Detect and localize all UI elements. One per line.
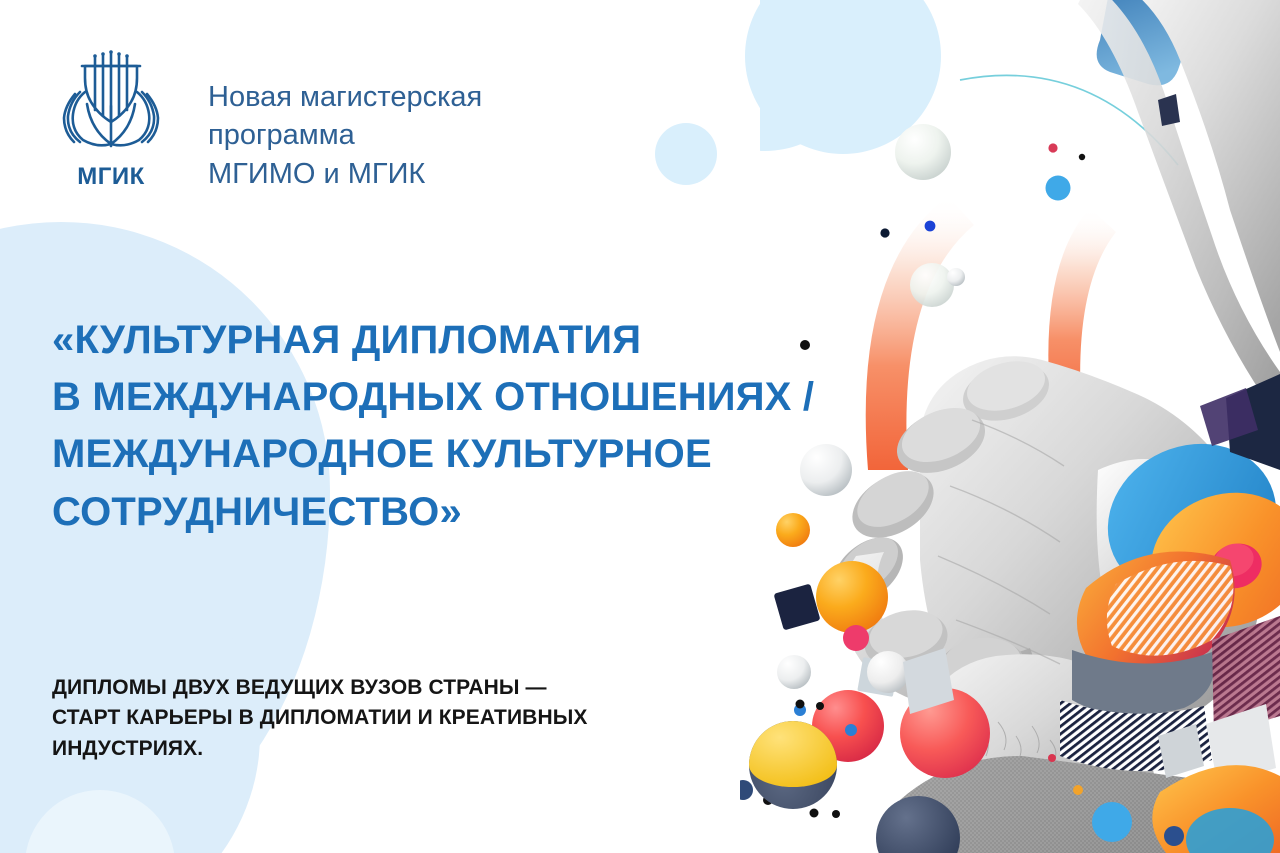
white-sphere-tiny <box>947 268 965 286</box>
mgik-lyre-book-emblem <box>61 48 161 156</box>
mgik-wordmark: МГИК <box>77 163 145 191</box>
grey-cube <box>857 657 898 697</box>
black-dot <box>880 228 889 237</box>
navy-shard <box>1226 374 1280 470</box>
blue-dot <box>925 221 936 232</box>
blue-gradient-rounded-shape <box>1097 0 1205 85</box>
tagline-line-2: СТАРТ КАРЬЕРЫ В ДИПЛОМАТИИ И КРЕАТИВНЫХ <box>52 703 587 733</box>
mgik-logo: МГИК <box>52 48 170 191</box>
white-sphere-top <box>867 651 909 693</box>
striped-fan-shape <box>1072 552 1235 716</box>
sky-blue-dot <box>1046 176 1071 201</box>
amber-sphere-large <box>816 561 888 633</box>
header-line-1: Новая магистерская <box>208 78 482 116</box>
colourful-shape-cluster <box>1048 374 1280 853</box>
blue-disc <box>1083 417 1280 622</box>
red-dot <box>1048 143 1057 152</box>
cyan-thin-arc <box>960 75 1178 165</box>
coral-sphere-big <box>900 688 990 778</box>
tagline: ДИПЛОМЫ ДВУХ ВЕДУЩИХ ВУЗОВ СТРАНЫ — СТАР… <box>52 673 587 764</box>
grey-panel-2 <box>903 648 954 714</box>
title-line-4: СОТРУДНИЧЕСТВО» <box>52 484 814 541</box>
pink-sphere-small <box>843 625 869 651</box>
coral-sphere <box>812 690 884 762</box>
header: МГИК Новая магистерская программа МГИМО … <box>52 48 482 193</box>
white-sphere-2 <box>777 655 811 689</box>
pearl-sphere-2 <box>910 263 954 307</box>
suit-sleeve <box>900 756 1280 853</box>
grey-panel <box>1206 704 1276 786</box>
tagline-line-3: ИНДУСТРИЯХ. <box>52 734 587 764</box>
page-title: «КУЛЬТУРНАЯ ДИПЛОМАТИЯ В МЕЖДУНАРОДНЫХ О… <box>52 312 814 541</box>
poster-canvas: МГИК Новая магистерская программа МГИМО … <box>0 0 1280 853</box>
lower-orange-arc <box>1152 765 1280 853</box>
orange-arc-left <box>866 196 974 470</box>
header-subtitle: Новая магистерская программа МГИМО и МГИ… <box>208 78 482 193</box>
dark-striped-wedge <box>1060 700 1212 771</box>
black-dot-2 <box>1079 154 1085 160</box>
sky-sphere-bottom <box>1092 802 1132 842</box>
header-line-2: программа <box>208 116 482 154</box>
tagline-line-1: ДИПЛОМЫ ДВУХ ВЕДУЩИХ ВУЗОВ СТРАНЫ — <box>52 673 587 703</box>
background-circle-small <box>655 123 717 185</box>
yellow-navy-sphere <box>749 721 837 809</box>
header-line-3: МГИМО и МГИК <box>208 155 482 193</box>
orange-torus-pink-core <box>1133 473 1280 647</box>
background-circle-large <box>745 0 941 154</box>
navy-cube <box>773 583 820 630</box>
orange-arc-right <box>1048 208 1116 420</box>
title-line-2: В МЕЖДУНАРОДНЫХ ОТНОШЕНИЯХ / <box>52 369 814 426</box>
title-line-1: «КУЛЬТУРНАЯ ДИПЛОМАТИЯ <box>52 312 814 369</box>
title-line-3: МЕЖДУНАРОДНОЕ КУЛЬТУРНОЕ <box>52 426 814 483</box>
navy-sphere-bottom <box>876 796 960 853</box>
